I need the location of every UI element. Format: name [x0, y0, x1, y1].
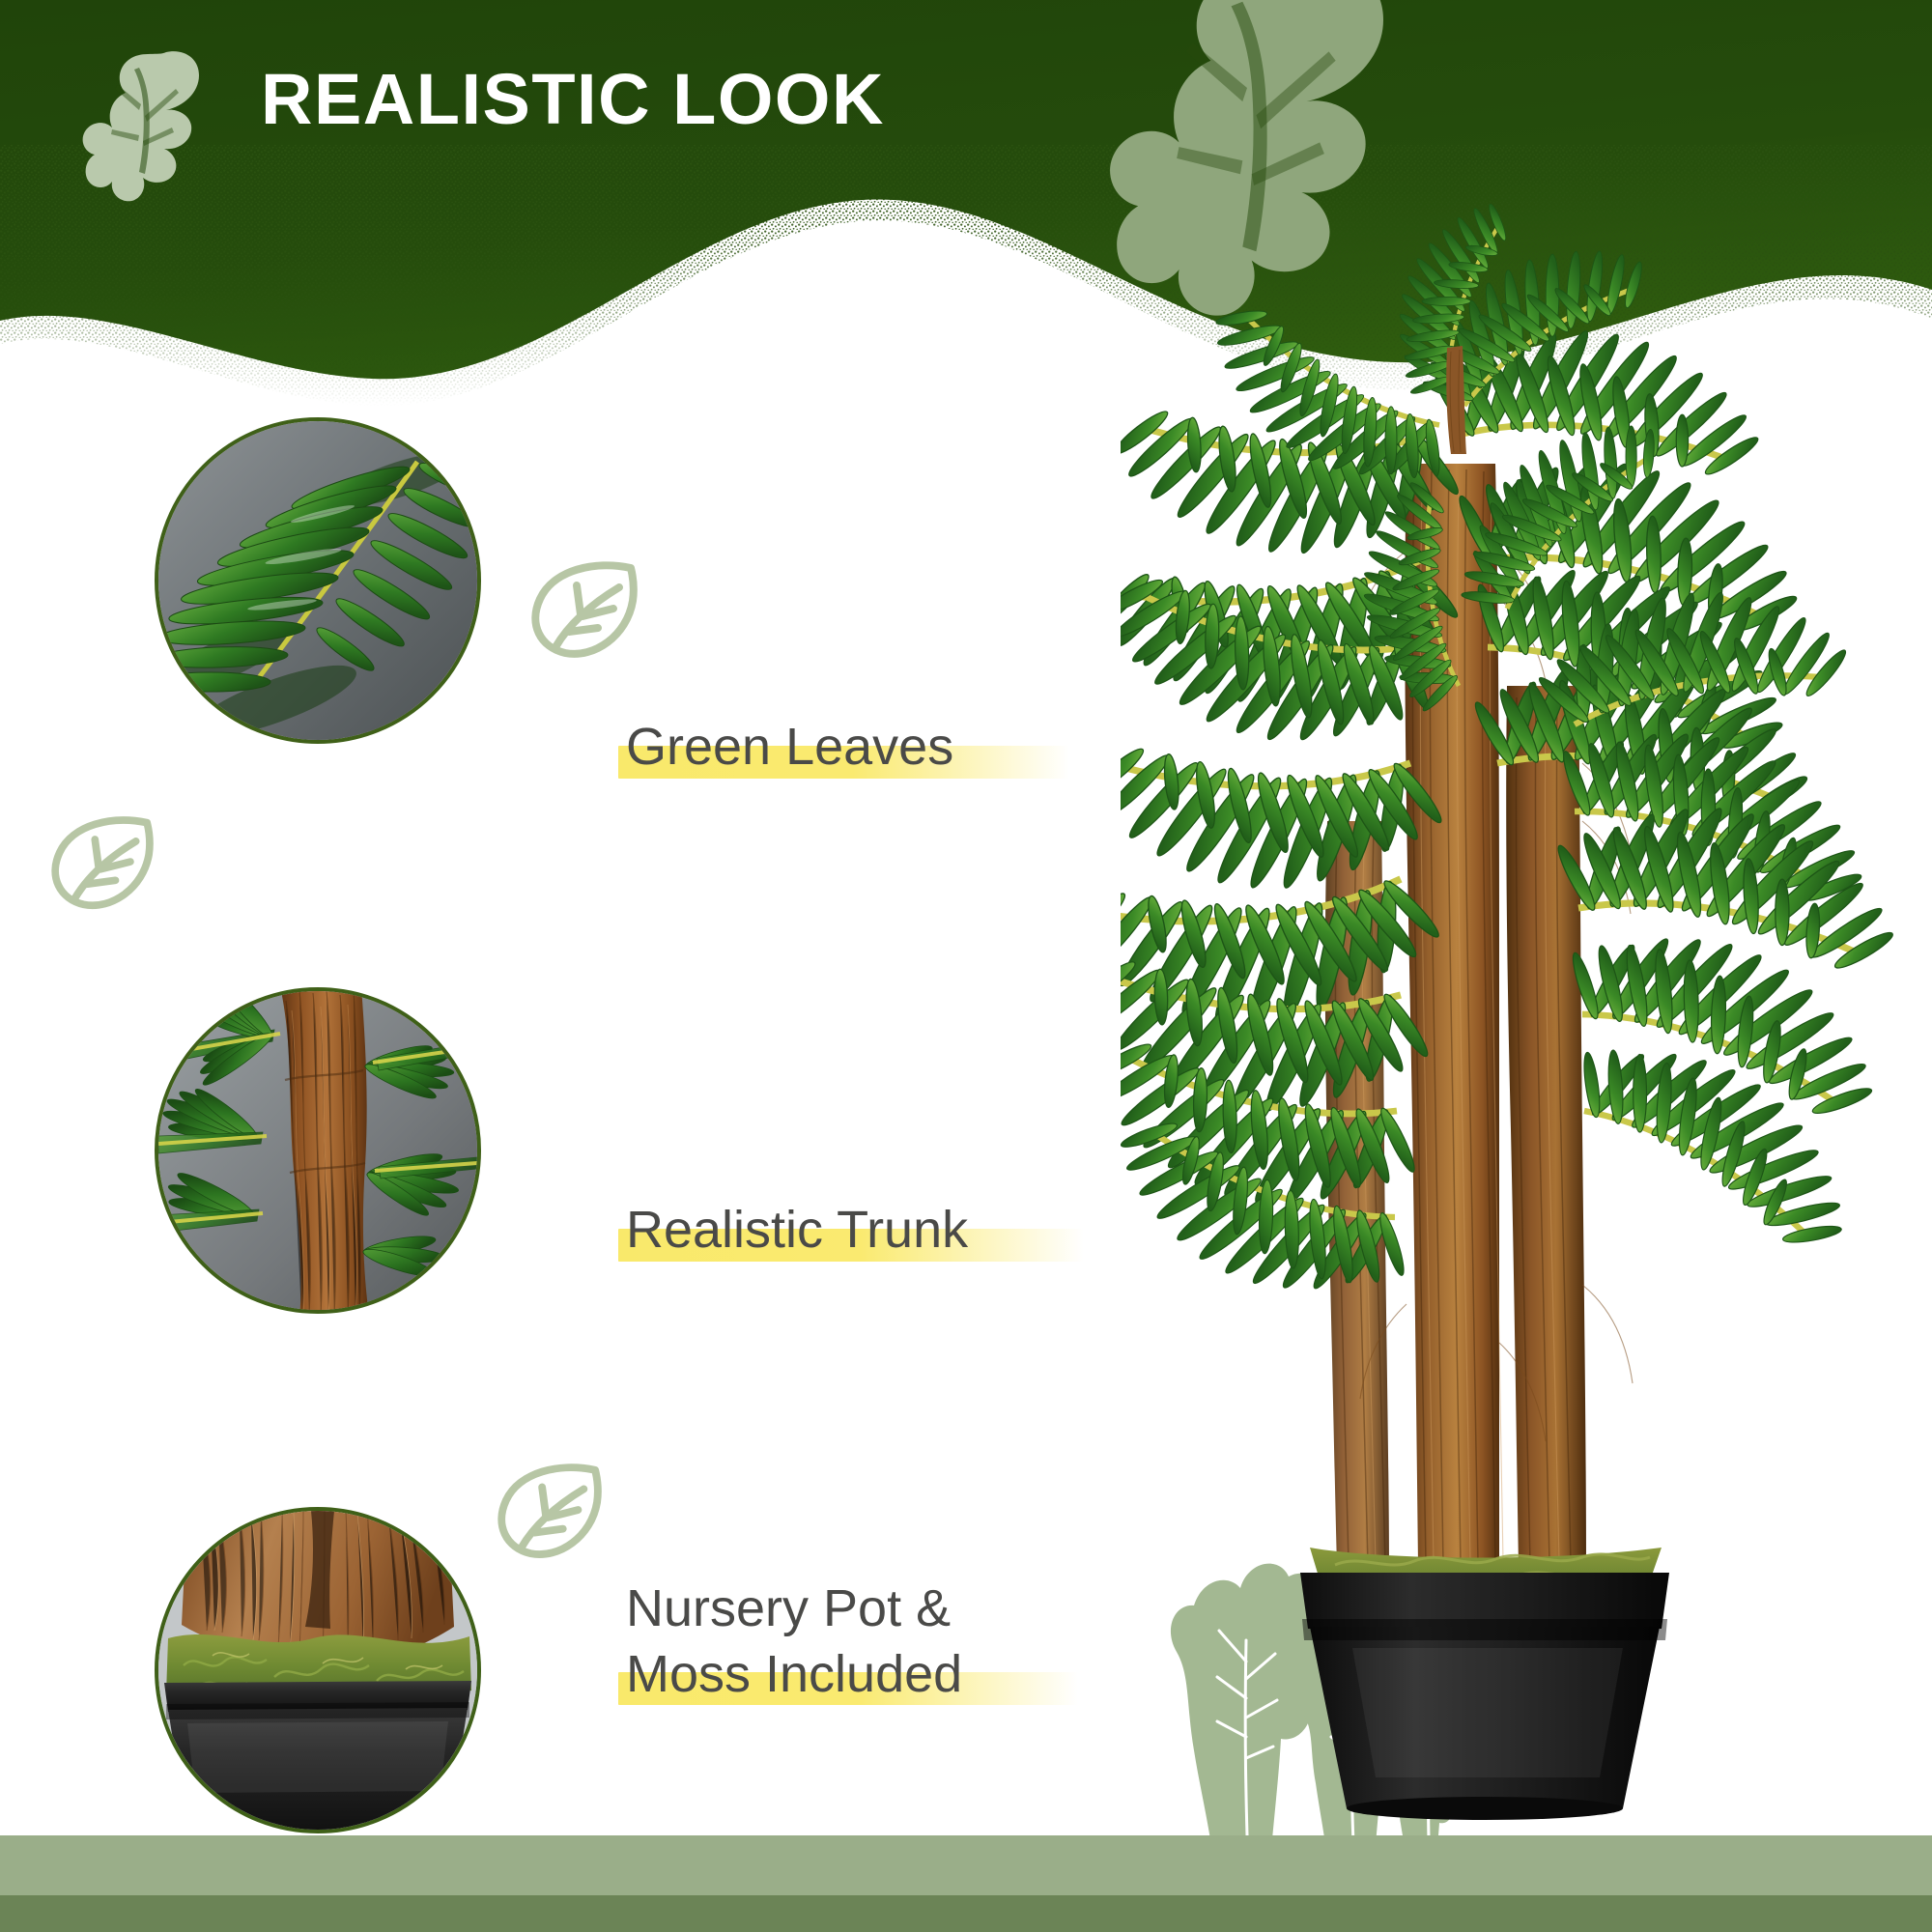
label-text: Green Leaves	[626, 718, 953, 776]
feature-label-green-leaves: Green Leaves	[626, 715, 953, 781]
page-title: REALISTIC LOOK	[261, 64, 885, 135]
label-line-highlighted: Green Leaves	[626, 715, 953, 781]
leaf-outline-icon	[526, 558, 642, 663]
feature-label-realistic-trunk: Realistic Trunk	[626, 1198, 968, 1264]
pot-moss-photo	[158, 1511, 477, 1830]
label-text-line-1: Nursery Pot &	[626, 1577, 962, 1642]
product-image-artificial-fern-palm	[1121, 145, 1932, 1826]
leaf-outline-icon	[46, 813, 158, 914]
bottom-band-light	[0, 1835, 1932, 1895]
leaf-outline-icon	[493, 1461, 607, 1563]
label-line-highlighted: Realistic Trunk	[626, 1198, 968, 1264]
bottom-band-dark	[0, 1895, 1932, 1932]
fern-frond-photo	[158, 421, 477, 740]
feature-photo-nursery-pot	[155, 1507, 481, 1833]
label-text: Realistic Trunk	[626, 1201, 968, 1259]
trunk-closeup-photo	[158, 991, 477, 1310]
feature-label-nursery-pot-moss: Nursery Pot & Moss Included	[626, 1577, 962, 1707]
label-line-highlighted: Moss Included	[626, 1642, 962, 1708]
label-text-line-2: Moss Included	[626, 1645, 962, 1703]
feature-photo-realistic-trunk	[155, 987, 481, 1314]
feature-photo-green-leaves	[155, 417, 481, 744]
infographic-canvas: REALISTIC LOOK	[0, 0, 1932, 1932]
